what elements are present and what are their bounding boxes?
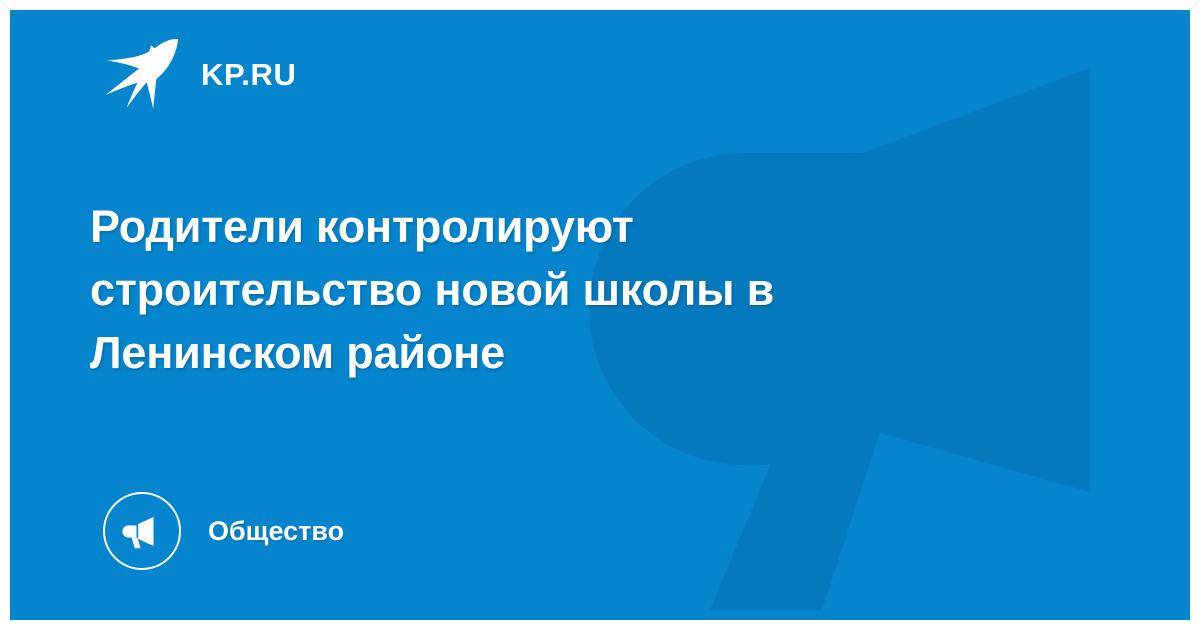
share-card: KP.RU Родители контролируют строительств… — [0, 0, 1200, 630]
brand-name: KP.RU — [201, 59, 296, 90]
category-label: Общество — [208, 518, 344, 545]
card-surface: KP.RU Родители контролируют строительств… — [10, 10, 1190, 620]
category-icon-circle — [103, 492, 181, 570]
swallow-bird-icon — [105, 38, 179, 110]
page-title: Родители контролируют строительство ново… — [90, 195, 970, 384]
megaphone-icon — [121, 510, 163, 552]
brand-header[interactable]: KP.RU — [105, 38, 296, 110]
category-badge[interactable]: Общество — [103, 492, 344, 570]
